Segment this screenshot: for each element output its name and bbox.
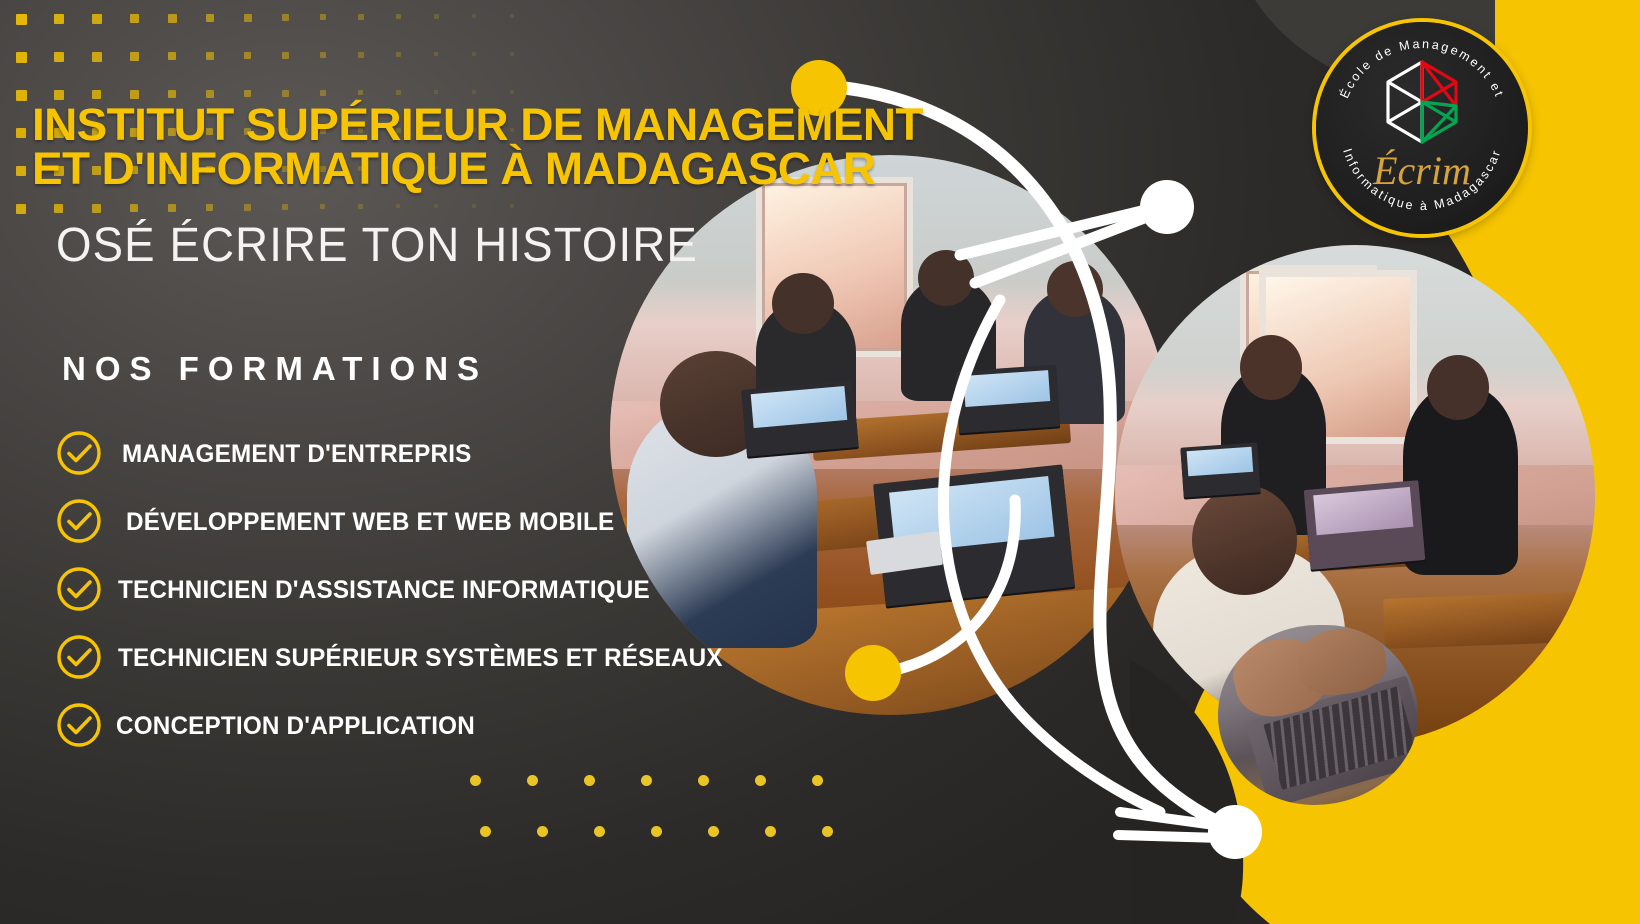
grid-dot: [510, 90, 514, 94]
accent-dot: [527, 775, 538, 786]
grid-dot: [244, 52, 251, 59]
formations-list: MANAGEMENT D'ENTREPRISDÉVELOPPEMENT WEB …: [56, 430, 836, 770]
grid-dot: [434, 14, 439, 19]
grid-dot: [472, 52, 476, 56]
accent-dot: [822, 826, 833, 837]
grid-dot: [54, 14, 64, 24]
accent-dot: [641, 775, 652, 786]
grid-dot: [130, 204, 138, 212]
accent-dot: [812, 775, 823, 786]
check-circle-icon: [56, 566, 102, 612]
formation-item: DÉVELOPPEMENT WEB ET WEB MOBILE: [56, 498, 836, 564]
grid-dot: [54, 52, 64, 62]
decorative-dot-rows: [470, 775, 890, 855]
formation-item: MANAGEMENT D'ENTREPRIS: [56, 430, 836, 496]
grid-dot: [282, 90, 289, 97]
grid-dot: [510, 204, 514, 208]
grid-dot: [206, 14, 214, 22]
logo-graphic: École de Management et Informatique à Ma…: [1316, 22, 1528, 234]
grid-dot: [396, 52, 401, 57]
grid-dot: [130, 52, 139, 61]
polyhedron-icon: [1388, 62, 1456, 142]
formation-item: TECHNICIEN D'ASSISTANCE INFORMATIQUE: [56, 566, 836, 632]
check-circle-icon: [56, 430, 102, 476]
grid-dot: [282, 52, 289, 59]
grid-dot: [282, 14, 289, 21]
grid-dot: [358, 52, 364, 58]
grid-dot: [358, 90, 363, 95]
grid-dot: [168, 204, 176, 212]
graph-node-yellow-lower-left: [845, 645, 901, 701]
check-circle-icon: [56, 498, 102, 544]
grid-dot: [92, 14, 102, 24]
formation-label: MANAGEMENT D'ENTREPRIS: [122, 440, 472, 469]
grid-dot: [244, 90, 251, 97]
grid-dot: [16, 90, 27, 101]
accent-dot: [537, 826, 548, 837]
graph-node-white-upper-right: [1140, 180, 1194, 234]
formation-item: CONCEPTION D'APPLICATION: [56, 702, 836, 768]
grid-dot: [92, 204, 101, 213]
formation-label: DÉVELOPPEMENT WEB ET WEB MOBILE: [126, 508, 614, 537]
grid-dot: [168, 14, 177, 23]
formation-label: CONCEPTION D'APPLICATION: [116, 712, 475, 741]
grid-dot: [320, 14, 326, 20]
accent-dot: [708, 826, 719, 837]
grid-dot: [434, 52, 438, 56]
grid-dot: [244, 204, 251, 211]
grid-dot: [472, 204, 476, 208]
check-circle-icon: [56, 634, 102, 680]
grid-dot: [320, 204, 325, 209]
grid-dot: [396, 90, 401, 95]
accent-dot: [651, 826, 662, 837]
section-heading-formations: NOS FORMATIONS: [62, 350, 488, 388]
grid-dot: [320, 90, 326, 96]
grid-dot: [244, 14, 252, 22]
grid-dot: [92, 52, 102, 62]
grid-dot: [16, 204, 26, 214]
accent-dot: [594, 826, 605, 837]
page-subtitle: OSÉ ÉCRIRE TON HISTOIRE: [56, 218, 698, 273]
grid-dot: [510, 52, 514, 56]
grid-dot: [16, 14, 27, 25]
formation-label: TECHNICIEN D'ASSISTANCE INFORMATIQUE: [118, 576, 650, 605]
check-circle-icon: [56, 702, 102, 748]
promotional-banner: INSTITUT SUPÉRIEUR DE MANAGEMENT ET D'IN…: [0, 0, 1640, 924]
grid-dot: [130, 90, 139, 99]
accent-dot: [470, 775, 481, 786]
grid-dot: [206, 52, 214, 60]
hands-on-laptop-keyboard-photo: [1218, 625, 1418, 805]
grid-dot: [168, 90, 176, 98]
ecrim-logo-badge: École de Management et Informatique à Ma…: [1316, 22, 1528, 234]
accent-dot: [698, 775, 709, 786]
grid-dot: [92, 90, 101, 99]
grid-dot: [206, 204, 213, 211]
formation-item: TECHNICIEN SUPÉRIEUR SYSTÈMES ET RÉSEAUX: [56, 634, 836, 700]
grid-dot: [54, 204, 63, 213]
grid-dot: [472, 14, 476, 18]
accent-dot: [480, 826, 491, 837]
grid-dot: [320, 52, 326, 58]
grid-dot: [434, 204, 438, 208]
grid-dot: [434, 90, 438, 94]
accent-dot: [584, 775, 595, 786]
grid-dot: [396, 204, 400, 208]
grid-dot: [510, 14, 514, 18]
grid-dot: [168, 52, 176, 60]
grid-dot: [130, 14, 139, 23]
graph-node-white-bottom: [1208, 805, 1262, 859]
accent-dot: [765, 826, 776, 837]
headline-line-2: ET D'INFORMATIQUE À MADAGASCAR: [32, 147, 950, 191]
logo-wordmark: Écrim: [1372, 148, 1471, 193]
grid-dot: [206, 90, 214, 98]
grid-dot: [16, 52, 27, 63]
formation-label: TECHNICIEN SUPÉRIEUR SYSTÈMES ET RÉSEAUX: [118, 644, 723, 673]
grid-dot: [16, 166, 26, 176]
grid-dot: [16, 128, 26, 138]
grid-dot: [358, 204, 363, 209]
accent-dot: [755, 775, 766, 786]
headline-line-1: INSTITUT SUPÉRIEUR DE MANAGEMENT: [32, 103, 950, 147]
grid-dot: [282, 204, 288, 210]
grid-dot: [358, 14, 364, 20]
grid-dot: [396, 14, 401, 19]
page-title: INSTITUT SUPÉRIEUR DE MANAGEMENT ET D'IN…: [32, 103, 950, 190]
grid-dot: [472, 90, 476, 94]
